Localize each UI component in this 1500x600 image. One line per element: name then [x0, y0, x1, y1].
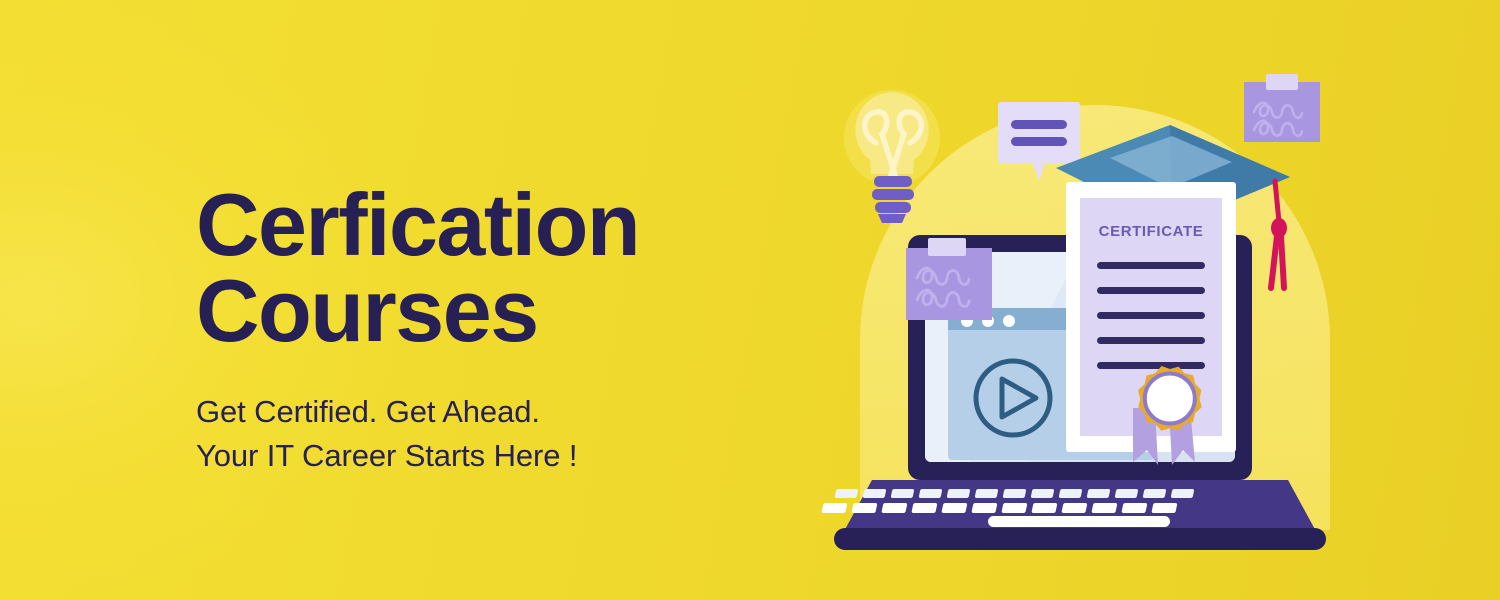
certificate-title: CERTIFICATE [1099, 223, 1204, 240]
window-dot [1003, 315, 1015, 327]
page-title: Cerfication Courses [196, 182, 816, 354]
hero-text-block: Cerfication Courses Get Certified. Get A… [196, 182, 816, 479]
spacebar-key [988, 516, 1170, 527]
certificate-document: CERTIFICATE [1066, 182, 1236, 465]
hero-subtitle: Get Certified. Get Ahead. Your IT Career… [196, 390, 816, 478]
sticky-note-left [906, 238, 992, 320]
laptop-certificate-illustration: CERTIFICATE [820, 30, 1380, 570]
certification-courses-banner: Cerfication Courses Get Certified. Get A… [0, 0, 1500, 600]
sticky-note-top-right [1244, 74, 1320, 142]
